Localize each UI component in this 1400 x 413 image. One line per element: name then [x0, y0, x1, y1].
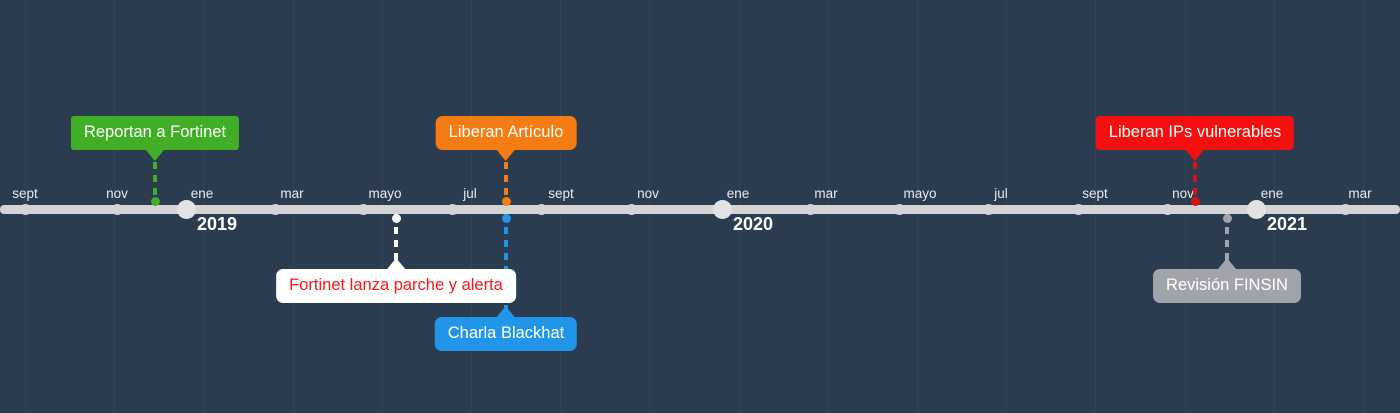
month-label: mayo — [903, 186, 936, 201]
month-tick-dot — [626, 204, 637, 215]
month-label: nov — [106, 186, 128, 201]
event-callout-label: Liberan Artículo — [449, 123, 564, 141]
year-tick-dot — [177, 200, 196, 219]
month-label: sept — [12, 186, 38, 201]
callout-tail — [497, 306, 515, 317]
event-marker-dot[interactable] — [502, 197, 511, 206]
month-tick-dot — [20, 204, 31, 215]
month-tick-dot — [536, 204, 547, 215]
month-label: ene — [1261, 186, 1284, 201]
callout-tail — [387, 258, 405, 269]
callout-tail — [1186, 150, 1204, 161]
event-callout[interactable]: Charla Blackhat — [435, 317, 577, 351]
month-tick-dot — [1162, 204, 1173, 215]
month-label: nov — [637, 186, 659, 201]
year-label: 2020 — [733, 214, 773, 235]
month-label: mayo — [368, 186, 401, 201]
event-marker-dot[interactable] — [502, 214, 511, 223]
event-callout[interactable]: Revisión FINSIN — [1153, 269, 1301, 303]
month-tick-dot — [983, 204, 994, 215]
month-tick-dot — [1340, 204, 1351, 215]
event-marker-dot[interactable] — [1223, 214, 1232, 223]
callout-tail — [146, 150, 164, 161]
event-callout-label: Fortinet lanza parche y alerta — [289, 276, 503, 294]
event-callout-label: Reportan a Fortinet — [84, 123, 226, 141]
month-tick-dot — [1073, 204, 1084, 215]
timeline-axis — [0, 205, 1400, 214]
month-label: mar — [280, 186, 303, 201]
event-callout[interactable]: Reportan a Fortinet — [71, 116, 239, 150]
event-callout-label: Liberan IPs vulnerables — [1109, 123, 1281, 141]
callout-tail — [1218, 258, 1236, 269]
month-label: sept — [548, 186, 574, 201]
timeline-chart: septnovenemarmayojulseptnovenemarmayojul… — [0, 0, 1400, 413]
year-label: 2019 — [197, 214, 237, 235]
month-label: mar — [814, 186, 837, 201]
month-label: ene — [727, 186, 750, 201]
callout-tail — [497, 150, 515, 161]
month-tick-dot — [270, 204, 281, 215]
month-label: jul — [994, 186, 1008, 201]
month-label: sept — [1082, 186, 1108, 201]
year-tick-dot — [713, 200, 732, 219]
month-tick-dot — [112, 204, 123, 215]
event-marker-dot[interactable] — [392, 214, 401, 223]
month-label: jul — [463, 186, 477, 201]
event-callout-label: Revisión FINSIN — [1166, 276, 1288, 294]
event-callout[interactable]: Liberan Artículo — [436, 116, 577, 150]
month-tick-dot — [805, 204, 816, 215]
event-marker-dot[interactable] — [1191, 197, 1200, 206]
month-label: mar — [1348, 186, 1371, 201]
year-tick-dot — [1247, 200, 1266, 219]
event-callout[interactable]: Fortinet lanza parche y alerta — [276, 269, 516, 303]
event-callout-label: Charla Blackhat — [448, 324, 564, 342]
year-label: 2021 — [1267, 214, 1307, 235]
month-tick-dot — [358, 204, 369, 215]
event-marker-dot[interactable] — [151, 197, 160, 206]
month-tick-dot — [447, 204, 458, 215]
event-callout[interactable]: Liberan IPs vulnerables — [1096, 116, 1294, 150]
month-label: ene — [191, 186, 214, 201]
month-tick-dot — [894, 204, 905, 215]
